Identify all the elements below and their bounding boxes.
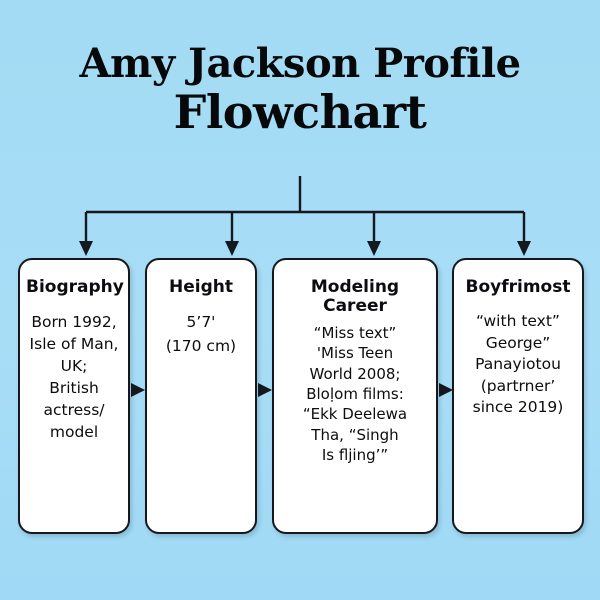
title-line-2: Flowchart: [0, 89, 600, 136]
node-modeling-career[interactable]: Modeling Career “Miss text” 'Miss Teen W…: [272, 258, 438, 534]
node-modeling-career-body: “Miss text” 'Miss Teen World 2008; Bloḷo…: [280, 323, 430, 466]
node-height-body: 5’7' (170 cm): [153, 311, 249, 358]
down-arrow-height: [225, 241, 239, 256]
down-arrow-biography: [79, 241, 93, 256]
right-arrow-height-to-modeling: [258, 383, 272, 397]
node-boyfriend[interactable]: Boyfrimost “with text” George” Panayioto…: [452, 258, 584, 534]
node-height-title: Height: [153, 278, 249, 297]
title-line-1: Amy Jackson Profile: [0, 44, 600, 85]
down-arrow-modeling: [367, 241, 381, 256]
node-biography[interactable]: Biography Born 1992, Isle of Man, UK; Br…: [18, 258, 130, 534]
node-biography-title: Biography: [26, 278, 122, 297]
down-arrow-boyfriend: [517, 241, 531, 256]
right-arrow-modeling-to-boyfriend: [439, 383, 453, 397]
right-arrow-biography-to-height: [131, 383, 145, 397]
page-title: Amy Jackson Profile Flowchart: [0, 44, 600, 136]
node-biography-body: Born 1992, Isle of Man, UK; British actr…: [26, 311, 122, 443]
node-height[interactable]: Height 5’7' (170 cm): [145, 258, 257, 534]
node-boyfriend-body: “with text” George” Panayiotou (partrner…: [460, 311, 576, 418]
flowchart-canvas: Amy Jackson Profile Flowchart: [0, 0, 600, 600]
node-modeling-career-title: Modeling Career: [280, 278, 430, 317]
node-boyfriend-title: Boyfrimost: [460, 278, 576, 297]
